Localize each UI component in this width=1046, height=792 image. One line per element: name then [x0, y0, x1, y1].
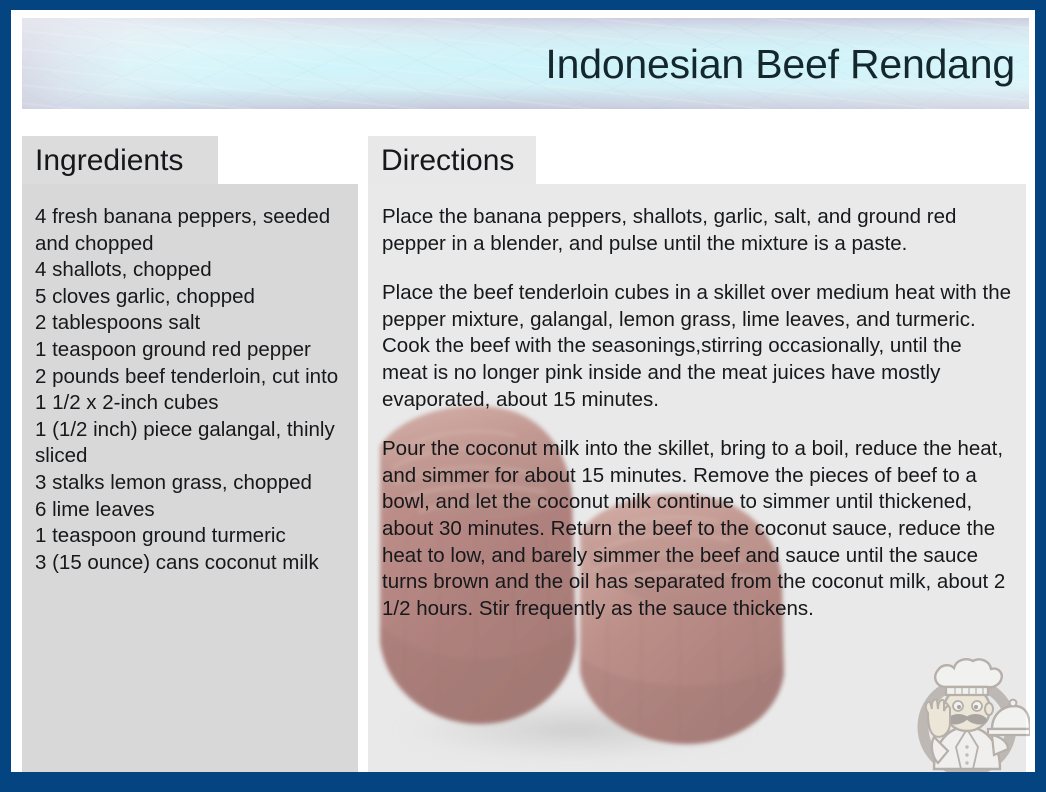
recipe-card: Indonesian Beef Rendang Ingredients Dire… — [0, 0, 1046, 792]
ingredient-item: 5 cloves garlic, chopped — [35, 284, 346, 311]
recipe-page: Indonesian Beef Rendang Ingredients Dire… — [11, 10, 1035, 772]
direction-step: Place the beef tenderloin cubes in a ski… — [382, 280, 1012, 413]
page-title: Indonesian Beef Rendang — [545, 40, 1015, 88]
ingredients-heading: Ingredients — [22, 136, 218, 184]
header-banner: Indonesian Beef Rendang — [22, 18, 1029, 109]
ingredient-item: 3 stalks lemon grass, chopped — [35, 470, 346, 497]
directions-heading: Directions — [368, 136, 536, 184]
ingredient-list: 4 fresh banana peppers, seeded and chopp… — [35, 204, 346, 576]
ingredient-item: 1 (1/2 inch) piece galangal, thinly slic… — [35, 417, 346, 470]
directions-body: Place the banana peppers, shallots, garl… — [382, 204, 1012, 622]
ingredient-item: 1 teaspoon ground red pepper — [35, 337, 346, 364]
ingredient-item: 4 fresh banana peppers, seeded and chopp… — [35, 204, 346, 257]
directions-panel: Place the banana peppers, shallots, garl… — [368, 184, 1026, 772]
ingredient-item: 4 shallots, chopped — [35, 257, 346, 284]
ingredients-panel: 4 fresh banana peppers, seeded and chopp… — [22, 184, 358, 772]
ingredient-item: 2 tablespoons salt — [35, 310, 346, 337]
ingredient-item: 2 pounds beef tenderloin, cut into 1 1/2… — [35, 364, 346, 417]
ingredient-item: 1 teaspoon ground turmeric — [35, 523, 346, 550]
ingredient-item: 6 lime leaves — [35, 497, 346, 524]
ingredient-item: 3 (15 ounce) cans coconut milk — [35, 550, 346, 577]
direction-step: Pour the coconut milk into the skillet, … — [382, 436, 1012, 622]
direction-step: Place the banana peppers, shallots, garl… — [382, 204, 1012, 257]
